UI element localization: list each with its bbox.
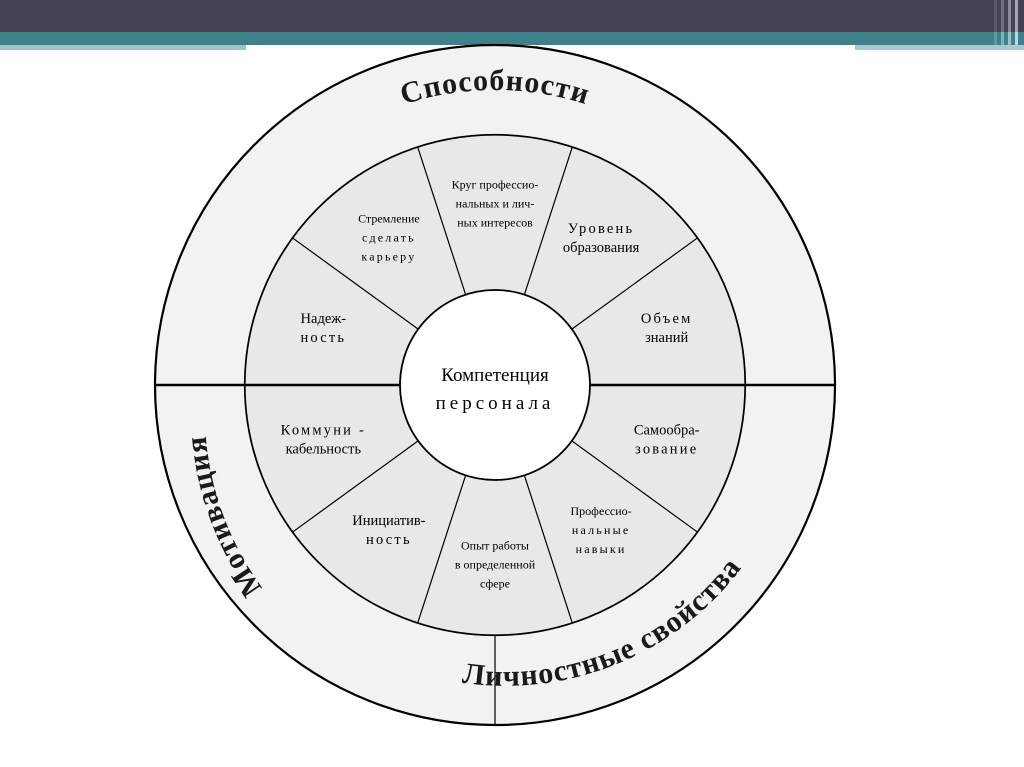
segment-label-9: Объем (641, 311, 693, 327)
segment-label-0: Самообра- (634, 423, 700, 439)
competence-wheel-diagram: Самообра-зованиеПрофессио-нальныенавыкиО… (0, 0, 1024, 767)
segment-label-2: в определенной (455, 557, 536, 571)
segment-label-2: Опыт работы (461, 538, 529, 552)
core-label-line-0: Компетенция (441, 365, 549, 386)
segment-label-5: ность (300, 330, 346, 346)
wheel-svg: Самообра-зованиеПрофессио-нальныенавыкиО… (0, 0, 1024, 767)
segment-label-2: сфере (480, 576, 510, 590)
segment-label-3: Инициатив- (352, 513, 426, 529)
core-label-line-1: персонала (436, 393, 555, 414)
segment-label-8: Уровень (568, 221, 634, 237)
segment-label-4: кабельность (286, 442, 362, 458)
segment-label-1: нальные (572, 523, 631, 537)
segment-label-8: образования (563, 240, 640, 256)
segment-label-6: Стремление (358, 212, 420, 226)
segment-label-7: нальных и лич- (456, 196, 535, 210)
segment-label-6: сделать (362, 231, 416, 245)
segment-label-1: Профессио- (571, 504, 632, 518)
segment-label-7: ных интересов (457, 215, 533, 229)
segment-label-7: Круг профессио- (452, 177, 539, 191)
segment-label-1: навыки (576, 542, 627, 556)
segment-label-6: карьеру (361, 250, 416, 264)
segment-label-0: зование (635, 442, 698, 458)
segment-label-3: ность (366, 532, 412, 548)
segment-label-5: Надеж- (301, 311, 347, 327)
segment-label-9: знаний (645, 330, 688, 346)
segment-label-4: Коммуни - (281, 423, 366, 439)
